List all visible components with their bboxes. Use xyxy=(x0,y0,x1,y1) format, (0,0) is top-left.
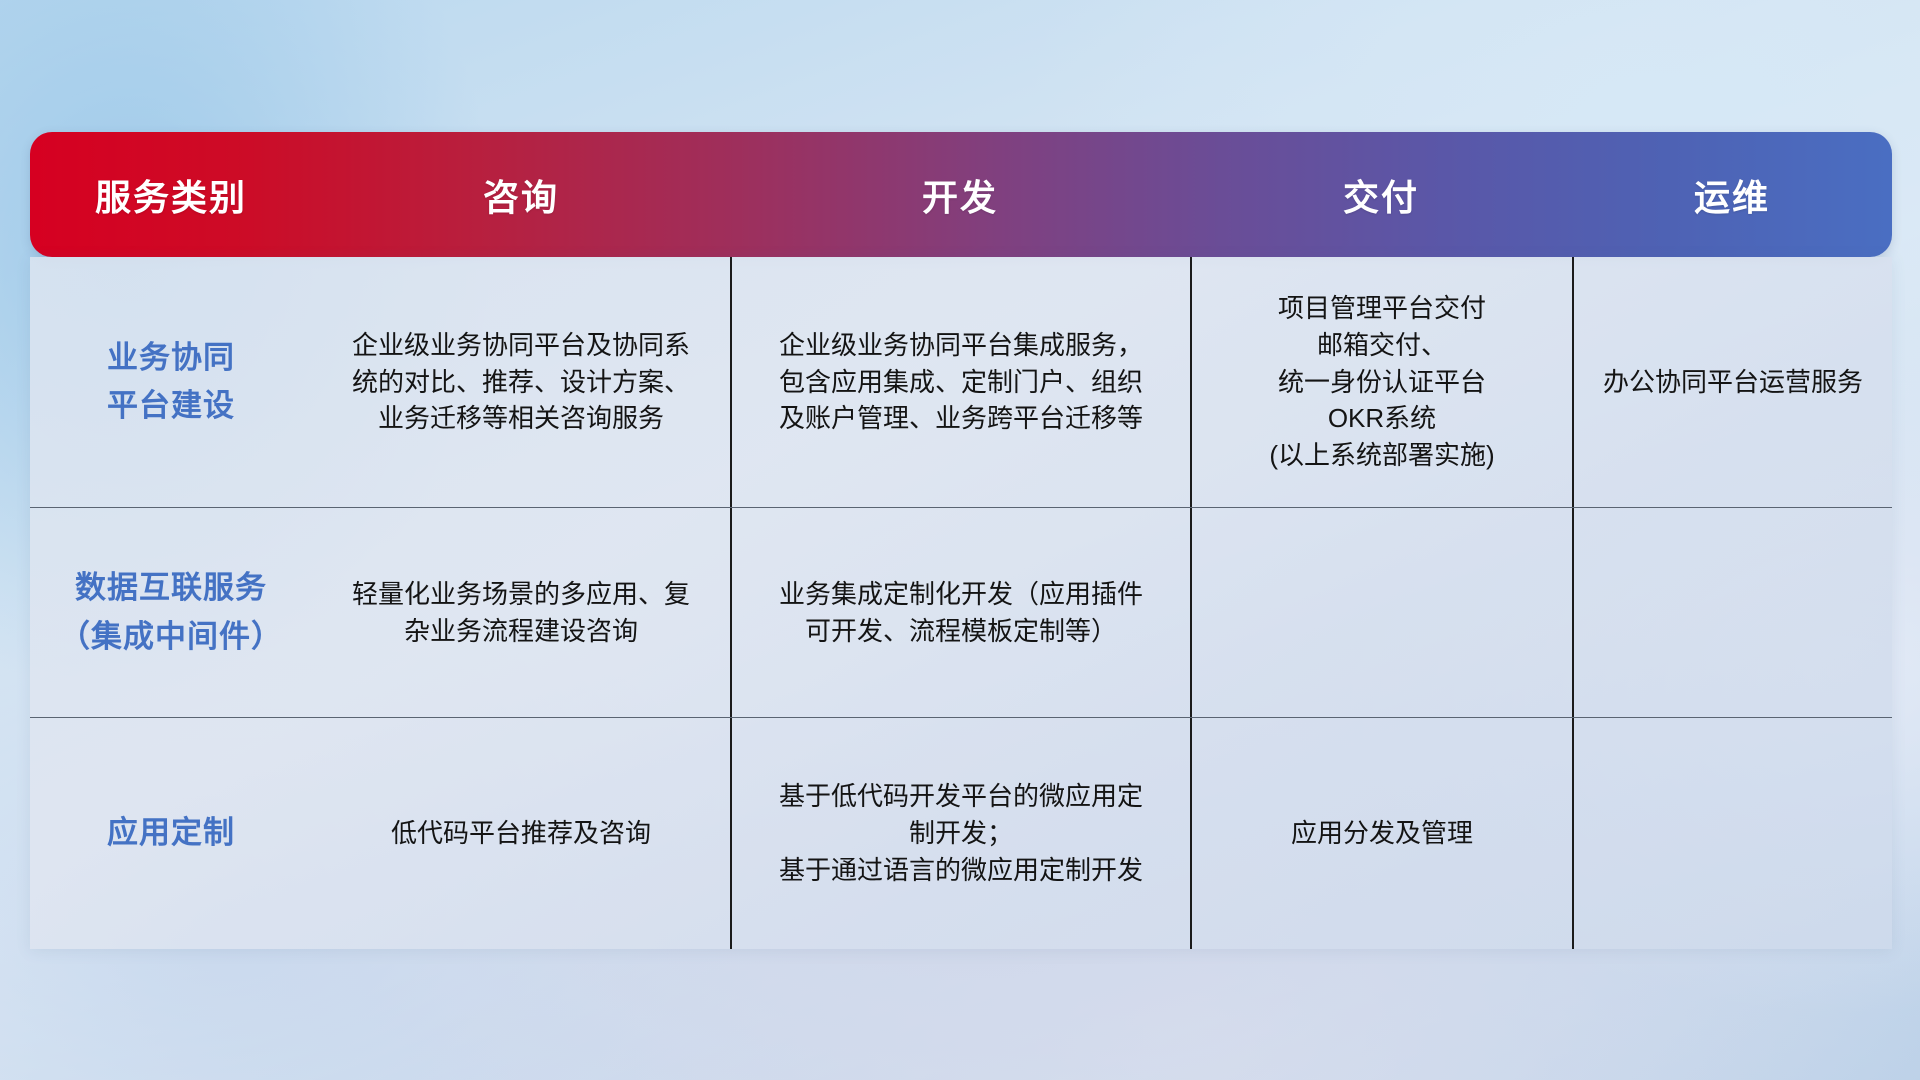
row-cell-consulting: 企业级业务协同平台及协同系 统的对比、推荐、设计方案、 业务迁移等相关咨询服务 xyxy=(312,257,730,507)
table-header-cell-consulting: 咨询 xyxy=(312,132,730,257)
row-cell-operations xyxy=(1572,508,1892,717)
row-cell-operations xyxy=(1572,718,1892,949)
table-header-cell-development: 开发 xyxy=(730,132,1190,257)
table-header-cell-operations: 运维 xyxy=(1572,132,1892,257)
row-label: 数据互联服务 （集成中间件） xyxy=(30,508,312,717)
row-label: 应用定制 xyxy=(30,718,312,949)
table-row: 应用定制 低代码平台推荐及咨询 基于低代码开发平台的微应用定 制开发； 基于通过… xyxy=(30,717,1892,949)
row-cell-delivery: 项目管理平台交付 邮箱交付、 统一身份认证平台 OKR系统 (以上系统部署实施) xyxy=(1190,257,1572,507)
row-cell-delivery: 应用分发及管理 xyxy=(1190,718,1572,949)
table-header-cell-service-category: 服务类别 xyxy=(30,132,312,257)
row-cell-consulting: 轻量化业务场景的多应用、复 杂业务流程建设咨询 xyxy=(312,508,730,717)
row-cell-delivery xyxy=(1190,508,1572,717)
row-cell-operations: 办公协同平台运营服务 xyxy=(1572,257,1892,507)
row-label: 业务协同 平台建设 xyxy=(30,257,312,507)
table-header-row: 服务类别 咨询 开发 交付 运维 xyxy=(30,132,1892,257)
row-cell-development: 企业级业务协同平台集成服务， 包含应用集成、定制门户、组织 及账户管理、业务跨平… xyxy=(730,257,1190,507)
service-matrix-table: 服务类别 咨询 开发 交付 运维 业务协同 平台建设 企业级业务协同平台及协同系… xyxy=(30,132,1892,949)
table-row: 业务协同 平台建设 企业级业务协同平台及协同系 统的对比、推荐、设计方案、 业务… xyxy=(30,257,1892,507)
row-cell-development: 基于低代码开发平台的微应用定 制开发； 基于通过语言的微应用定制开发 xyxy=(730,718,1190,949)
table-header-cell-delivery: 交付 xyxy=(1190,132,1572,257)
row-cell-consulting: 低代码平台推荐及咨询 xyxy=(312,718,730,949)
row-cell-development: 业务集成定制化开发（应用插件 可开发、流程模板定制等） xyxy=(730,508,1190,717)
table-body: 业务协同 平台建设 企业级业务协同平台及协同系 统的对比、推荐、设计方案、 业务… xyxy=(30,257,1892,949)
table-row: 数据互联服务 （集成中间件） 轻量化业务场景的多应用、复 杂业务流程建设咨询 业… xyxy=(30,507,1892,717)
